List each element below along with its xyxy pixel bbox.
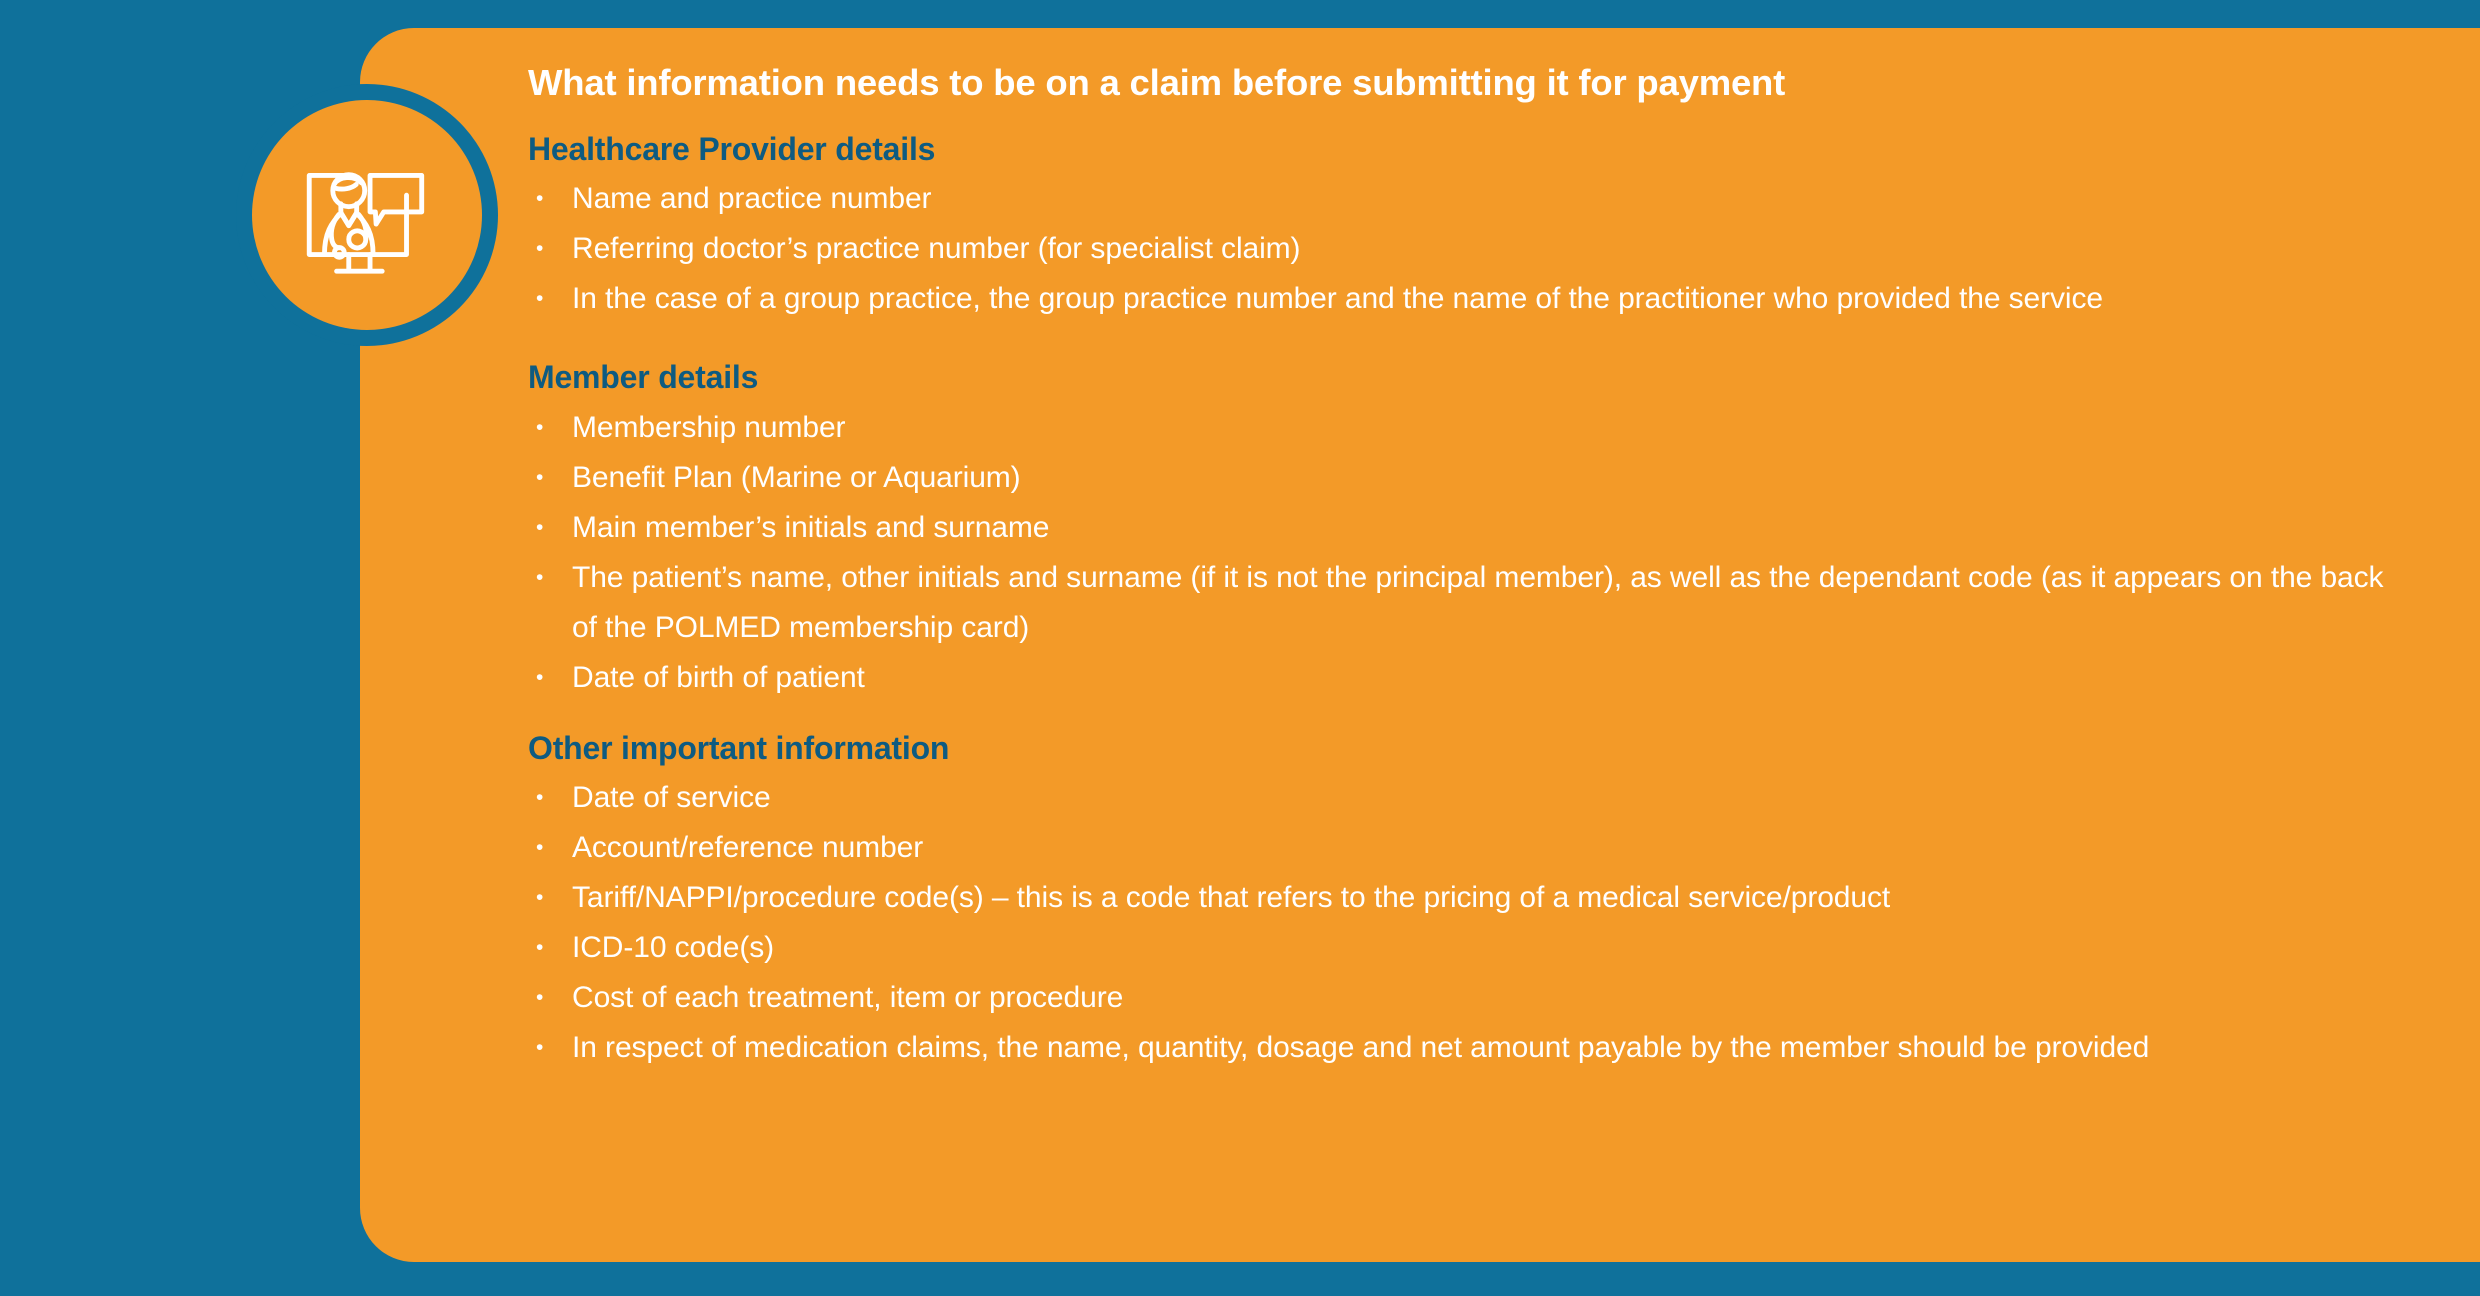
slide-canvas: What information needs to be on a claim … [0,0,2480,1296]
list-item: Tariff/NAPPI/procedure code(s) – this is… [528,873,2398,923]
section-healthcare-provider-details: Healthcare Provider details Name and pra… [528,130,2398,324]
bullet-list: Name and practice number Referring docto… [528,174,2398,324]
list-item: Date of service [528,773,2398,823]
list-item: Date of birth of patient [528,653,2398,703]
page-title: What information needs to be on a claim … [528,62,2398,104]
list-item: In the case of a group practice, the gro… [528,274,2398,324]
doctor-on-monitor-icon [252,100,482,330]
bullet-list: Membership number Benefit Plan (Marine o… [528,403,2398,703]
section-heading: Healthcare Provider details [528,130,2398,168]
list-item: Cost of each treatment, item or procedur… [528,973,2398,1023]
bullet-list: Date of service Account/reference number… [528,773,2398,1073]
list-item: In respect of medication claims, the nam… [528,1023,2398,1073]
list-item: Name and practice number [528,174,2398,224]
section-member-details: Member details Membership number Benefit… [528,358,2398,702]
list-item: Account/reference number [528,823,2398,873]
card-content: What information needs to be on a claim … [528,62,2398,1083]
section-heading: Member details [528,358,2398,396]
list-item: Main member’s initials and surname [528,503,2398,553]
list-item: ICD-10 code(s) [528,923,2398,973]
section-other-important-information: Other important information Date of serv… [528,729,2398,1073]
list-item: Referring doctor’s practice number (for … [528,224,2398,274]
list-item: The patient’s name, other initials and s… [528,553,2398,653]
list-item: Membership number [528,403,2398,453]
list-item: Benefit Plan (Marine or Aquarium) [528,453,2398,503]
section-heading: Other important information [528,729,2398,767]
